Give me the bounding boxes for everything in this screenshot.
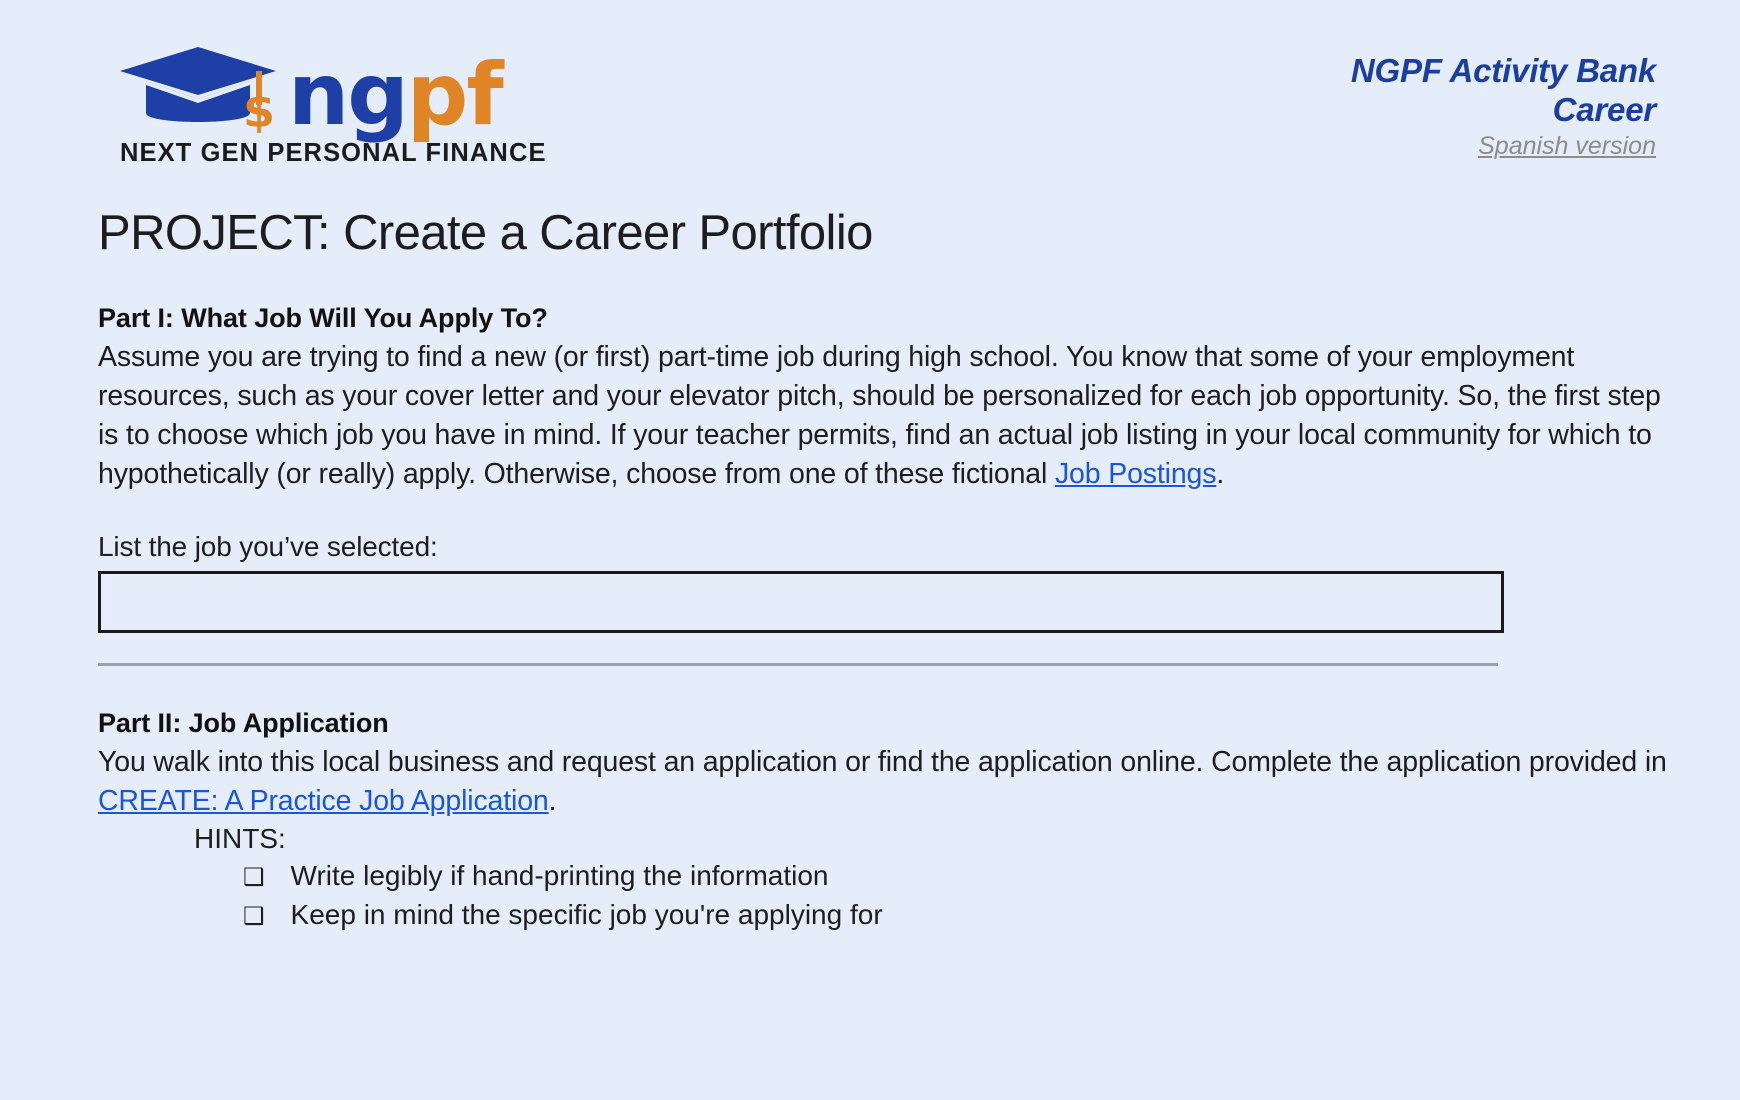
section-divider: [98, 663, 1498, 666]
list-item: ❑ Write legibly if hand-printing the inf…: [243, 857, 1670, 896]
hints-list: ❑ Write legibly if hand-printing the inf…: [98, 857, 1670, 934]
part-1-body: Assume you are trying to find a new (or …: [98, 338, 1670, 494]
spanish-version-link[interactable]: Spanish version: [1036, 132, 1656, 161]
job-postings-link[interactable]: Job Postings: [1055, 458, 1216, 490]
selected-job-input[interactable]: [98, 571, 1504, 633]
graduation-cap-dollar-icon: $: [116, 41, 286, 133]
activity-bank-header: NGPF Activity Bank Career Spanish versio…: [1036, 52, 1656, 161]
part-1-heading: Part I: What Job Will You Apply To?: [98, 303, 1670, 334]
part-2-body-tail: .: [549, 785, 557, 817]
page-title: PROJECT: Create a Career Portfolio: [98, 207, 1670, 261]
checkbox-icon[interactable]: ❑: [243, 904, 265, 928]
ngpf-logo: $ ngpf NEXT GEN PERSONAL FINANCE: [116, 38, 576, 168]
hint-text: Keep in mind the specific job you're app…: [291, 896, 883, 935]
part-2-body-text: You walk into this local business and re…: [98, 746, 1667, 778]
practice-job-application-link[interactable]: CREATE: A Practice Job Application: [98, 785, 549, 817]
part-1-body-tail: .: [1216, 458, 1224, 490]
logo-tagline: NEXT GEN PERSONAL FINANCE: [120, 139, 576, 168]
list-item: ❑ Keep in mind the specific job you're a…: [243, 896, 1670, 935]
section-part-1: Part I: What Job Will You Apply To? Assu…: [98, 303, 1670, 667]
checkbox-icon[interactable]: ❑: [243, 865, 265, 889]
part-1-body-text: Assume you are trying to find a new (or …: [98, 341, 1661, 490]
activity-bank-title: NGPF Activity Bank Career: [1036, 52, 1656, 130]
selected-job-label: List the job you’ve selected:: [98, 531, 1670, 563]
logo-row: $ ngpf: [116, 38, 576, 133]
logo-wordmark: ngpf: [288, 59, 502, 133]
document-page: $ ngpf NEXT GEN PERSONAL FINANCE NGPF Ac…: [0, 0, 1740, 1100]
activity-bank-title-line2: Career: [1036, 91, 1656, 130]
hint-text: Write legibly if hand-printing the infor…: [291, 857, 829, 896]
logo-wordmark-ng: ng: [288, 45, 407, 145]
logo-wordmark-pf: pf: [407, 45, 502, 145]
activity-bank-title-line1: NGPF Activity Bank: [1036, 52, 1656, 91]
part-2-heading: Part II: Job Application: [98, 708, 1670, 739]
svg-text:$: $: [243, 84, 275, 133]
document-header: $ ngpf NEXT GEN PERSONAL FINANCE NGPF Ac…: [98, 0, 1670, 175]
part-2-body: You walk into this local business and re…: [98, 743, 1670, 821]
section-part-2: Part II: Job Application You walk into t…: [98, 708, 1670, 934]
hints-label: HINTS:: [194, 823, 1670, 855]
